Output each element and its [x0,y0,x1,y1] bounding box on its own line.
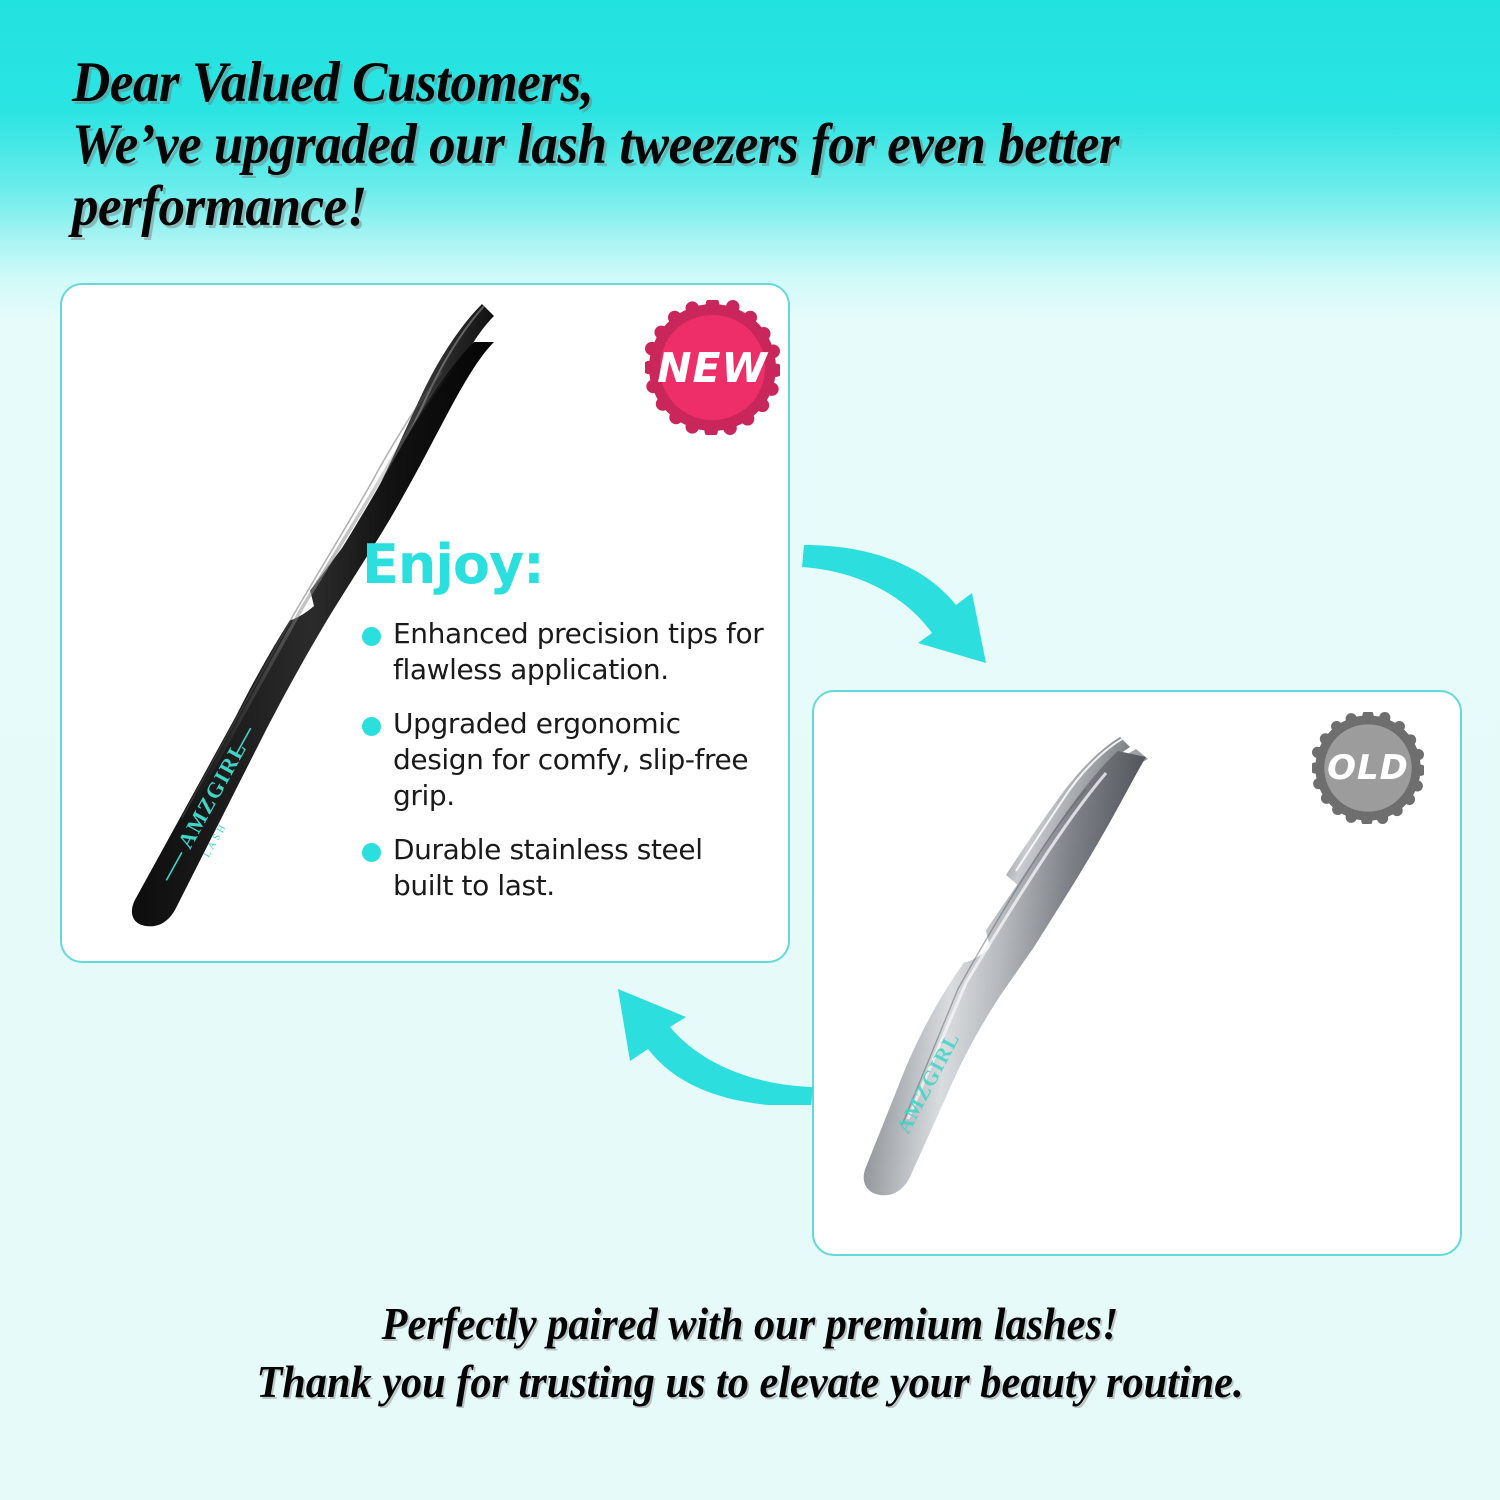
new-badge-label: NEW [657,344,768,392]
bullet-dot-icon [362,843,381,862]
brand-engraving: AMZGIRL LASH [154,721,276,894]
feature-bullet-list: Enhanced precision tips for flawless app… [362,616,766,904]
list-item: Enhanced precision tips for flawless app… [362,616,766,688]
feature-text: Enhanced precision tips for flawless app… [393,616,766,688]
new-badge: NEW [645,300,780,435]
footer-message: Perfectly paired with our premium lashes… [45,1295,1455,1411]
enjoy-feature-block: Enjoy: Enhanced precision tips for flawl… [362,536,766,922]
arrow-new-to-old-icon [790,545,1005,675]
old-badge-label: OLD [1327,748,1409,788]
old-silver-lash-tweezer-image: AMZGIRL [850,715,1300,1225]
old-badge: OLD [1312,712,1424,824]
enjoy-heading: Enjoy: [362,536,766,594]
bullet-dot-icon [362,627,381,646]
list-item: Upgraded ergonomic design for comfy, sli… [362,706,766,814]
page-title: Dear Valued Customers, We’ve upgraded ou… [72,52,1365,238]
feature-text: Durable stainless steel built to last. [393,832,766,904]
bullet-dot-icon [362,717,381,736]
arrow-old-to-new-icon [608,975,823,1105]
list-item: Durable stainless steel built to last. [362,832,766,904]
feature-text: Upgraded ergonomic design for comfy, sli… [393,706,766,814]
